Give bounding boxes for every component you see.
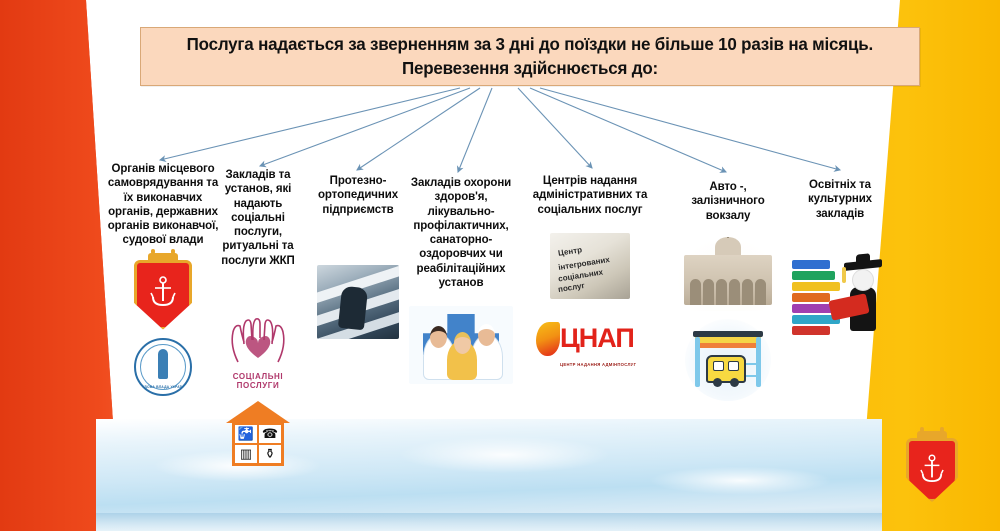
station-colonnade [690, 279, 766, 305]
anchor-icon [920, 454, 944, 486]
column-stations: Авто -, залізничного вокзалу [676, 180, 780, 401]
bus-wheel [730, 378, 739, 387]
canopy-stripe-orange [695, 343, 761, 348]
gas-lamp-icon: ⚱ [258, 444, 282, 464]
header-banner: Послуга надається за зверненням за 3 дні… [140, 27, 920, 86]
column-local-government: Органів місцевого самоврядування та їх в… [104, 162, 222, 396]
medical-staff-photo [408, 306, 514, 384]
column-prosthetics: Протезно-ортопедичних підприємств [306, 174, 410, 339]
nurse-head [478, 324, 495, 346]
anchor-icon [150, 276, 176, 310]
sign-text-line: Центр [557, 245, 582, 258]
cnap-wordmark: ЦНАП [560, 323, 634, 354]
tassel [842, 267, 846, 283]
banner-line-1: Послуга надається за зверненням за 3 дні… [187, 33, 873, 56]
head [852, 269, 874, 291]
column-caption: Освітніх та культурних закладів [790, 178, 890, 221]
bus-window [713, 361, 724, 371]
graduate-figure [844, 257, 884, 331]
themis-figure [158, 349, 168, 379]
faucet-icon: 🚰 [234, 424, 258, 444]
cnap-subtitle: ЦЕНТР НАДАННЯ АДМІНПОСЛУГ [560, 362, 636, 367]
book [792, 282, 840, 291]
judicial-power-seal: СУДОВА ВЛАДА УКРАЇНИ [104, 338, 222, 396]
seal-label: СУДОВА ВЛАДА УКРАЇНИ [136, 386, 190, 390]
canopy-post-right [756, 337, 761, 387]
station-dome [715, 237, 741, 257]
column-caption: Закладів та установ, які надають соціаль… [208, 168, 308, 268]
utilities-house-icon: 🚰 ☎ ▥ ⚱ [208, 401, 308, 467]
doctor-head [430, 326, 447, 348]
banner-line-2: Перевезення здійснюється до: [402, 57, 658, 80]
bus-wheel [713, 378, 722, 387]
slide-canvas: Послуга надається за зверненням за 3 дні… [0, 0, 1000, 531]
column-caption: Закладів охорони здоров'я, лікувально-пр… [408, 176, 514, 290]
bus-icon [706, 355, 746, 383]
cnap-flame-mark [536, 322, 560, 356]
book [792, 260, 830, 269]
cnap-logo: ЦНАП ЦЕНТР НАДАННЯ АДМІНПОСЛУГ [522, 321, 658, 367]
book [792, 293, 830, 302]
column-caption: Протезно-ортопедичних підприємств [306, 174, 410, 217]
book-stack [792, 258, 842, 335]
mortarboard-icon [844, 259, 882, 271]
hands-heart-icon [224, 310, 292, 366]
column-caption: Центрів надання адміністративних та соці… [522, 174, 658, 217]
column-healthcare: Закладів охорони здоров'я, лікувально-пр… [408, 176, 514, 384]
social-services-label: СОЦІАЛЬНІ ПОСЛУГИ [215, 372, 301, 391]
service-centre-sign-photo: Центр інтегрованих соціальних послуг [522, 233, 658, 299]
book [792, 271, 835, 280]
column-education-culture: Освітніх та культурних закладів [790, 178, 890, 337]
column-caption: Органів місцевого самоврядування та їх в… [104, 162, 222, 248]
treadmill-prosthetics-photo [306, 265, 410, 339]
odesa-coat-of-arms [104, 260, 222, 330]
house-roof [226, 401, 290, 423]
female-nurse-head [454, 332, 471, 354]
bus-station-icon [676, 319, 780, 401]
telephone-icon: ☎ [258, 424, 282, 444]
column-admin-services: Центрів надання адміністративних та соці… [522, 174, 658, 367]
column-social-services: Закладів та установ, які надають соціаль… [208, 168, 308, 467]
book [792, 326, 830, 335]
railway-station-photo [676, 237, 780, 311]
utilities-grid: 🚰 ☎ ▥ ⚱ [232, 422, 284, 466]
bus-window [728, 361, 739, 371]
radiator-icon: ▥ [234, 444, 258, 464]
canopy-post-left [695, 337, 700, 387]
footer-odesa-coat-of-arms [906, 438, 958, 502]
water-edge [96, 513, 882, 531]
graduate-with-books-icon [790, 243, 890, 337]
column-caption: Авто -, залізничного вокзалу [676, 180, 780, 223]
social-services-hands-logo: СОЦІАЛЬНІ ПОСЛУГИ [215, 310, 301, 391]
